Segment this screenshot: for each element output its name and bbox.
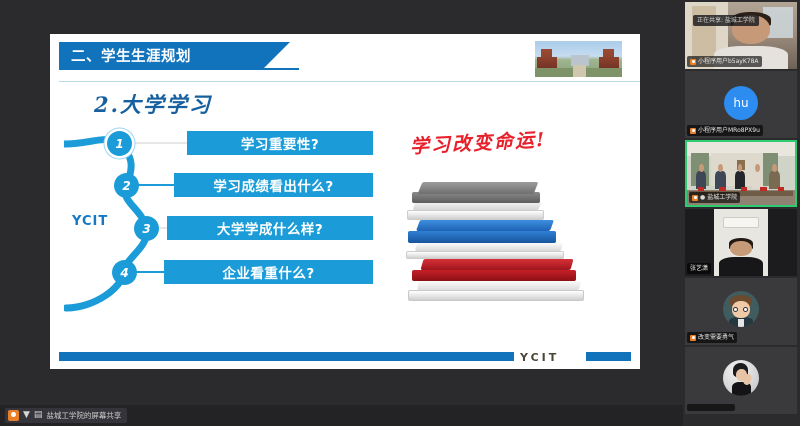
cartoon-avatar-icon [723,291,759,327]
flow-node-1[interactable]: 1 [107,131,132,156]
participant-name-2: 小程序用户MRo8PX9u [687,125,763,136]
microphone-icon[interactable]: ▼ [23,411,30,420]
sharing-status-banner: 正在共享: 盐城工学院 [693,15,759,26]
participant-name-text-5: 改变需要勇气 [698,333,734,342]
book-stack-graphic [402,180,602,310]
participant-tile-1[interactable]: 正在共享: 盐城工学院 ⋯ 小程序用户b5ayK78A [685,2,797,69]
participant-name-5: 改变需要勇气 [687,332,737,343]
screen-share-status-chip[interactable]: ▼ ▤ 盐城工学院的屏幕共享 [5,408,127,423]
slogan-text: 学习改变命运! [409,125,547,159]
participant-tile-3-active-speaker[interactable]: ● 盐城工学院 [685,140,797,207]
participant-name-6 [687,404,735,411]
avatar-initials-2: hu [733,96,748,110]
campus-gate-photo [534,40,623,78]
slide-header-divider [59,81,640,82]
flow-bar-2[interactable]: 学习成绩看出什么? [174,173,373,197]
flow-diagram: YCIT 1 2 3 4 学习重要性? 学习成绩看出什么? 大学学成什么样? 企… [64,130,374,320]
participant-name-3: ● 盐城工学院 [689,192,740,203]
flow-node-2[interactable]: 2 [114,173,139,198]
tile-options-icon[interactable]: ⋯ [786,16,794,25]
participant-tile-4[interactable]: 张艺潇 [685,209,797,276]
slide-artwork: 学习改变命运! [390,132,618,322]
participant-name-text-4: 张艺潇 [690,264,708,273]
slide-footer-bar-right [586,352,631,361]
participant-name-text-3: 盐城工学院 [707,193,737,202]
slide-side-logo: YCIT [72,214,108,229]
camera-icon[interactable]: ▤ [34,411,43,420]
participant-avatar-icon [692,195,698,201]
meeting-window: 二、学生生涯规划 2.大学学习 [0,0,800,426]
participant-name-text-2: 小程序用户MRo8PX9u [698,126,760,135]
banner-tail-shape [264,42,290,68]
slide-footer-logo: YCIT [520,351,559,364]
flow-bar-1[interactable]: 学习重要性? [187,131,373,155]
bottom-status-bar: ▼ ▤ 盐城工学院的屏幕共享 [0,405,683,426]
participant-name-1: 小程序用户b5ayK78A [687,56,762,67]
flow-bar-3[interactable]: 大学学成什么样? [167,216,373,240]
participant-avatar-icon [690,335,696,341]
presentation-slide: 二、学生生涯规划 2.大学学习 [50,34,640,369]
photo-avatar [723,360,759,396]
participant-name-text-1: 小程序用户b5ayK78A [698,57,759,66]
participant-tile-2[interactable]: hu 小程序用户MRo8PX9u [685,71,797,138]
slide-footer-bar-left [59,352,514,361]
slide-banner-title: 二、学生生涯规划 [71,45,191,66]
banner-underline [59,68,299,70]
participant-tile-5[interactable]: 改变需要勇气 [685,278,797,345]
participant-tile-6[interactable] [685,347,797,414]
slide-subtitle: 2.大学学习 [94,89,212,119]
participant-name-4: 张艺潇 [687,263,711,274]
participant-avatar-icon [690,128,696,134]
slide-banner: 二、学生生涯规划 [59,42,264,68]
flow-bar-4[interactable]: 企业看重什么? [164,260,373,284]
flow-node-4[interactable]: 4 [112,260,137,285]
initials-avatar-hu: hu [724,86,758,120]
shared-screen-stage[interactable]: 二、学生生涯规划 2.大学学习 [0,0,683,405]
flow-node-3[interactable]: 3 [134,216,159,241]
slide-left-rail [50,34,59,369]
screen-share-label: 盐城工学院的屏幕共享 [46,410,121,421]
participant-avatar-icon [690,59,696,65]
microphone-icon: ● [700,193,705,202]
participant-filmstrip[interactable]: 正在共享: 盐城工学院 ⋯ 小程序用户b5ayK78A hu 小程序用户MRo8… [683,0,800,426]
presenter-avatar-icon [8,410,19,421]
